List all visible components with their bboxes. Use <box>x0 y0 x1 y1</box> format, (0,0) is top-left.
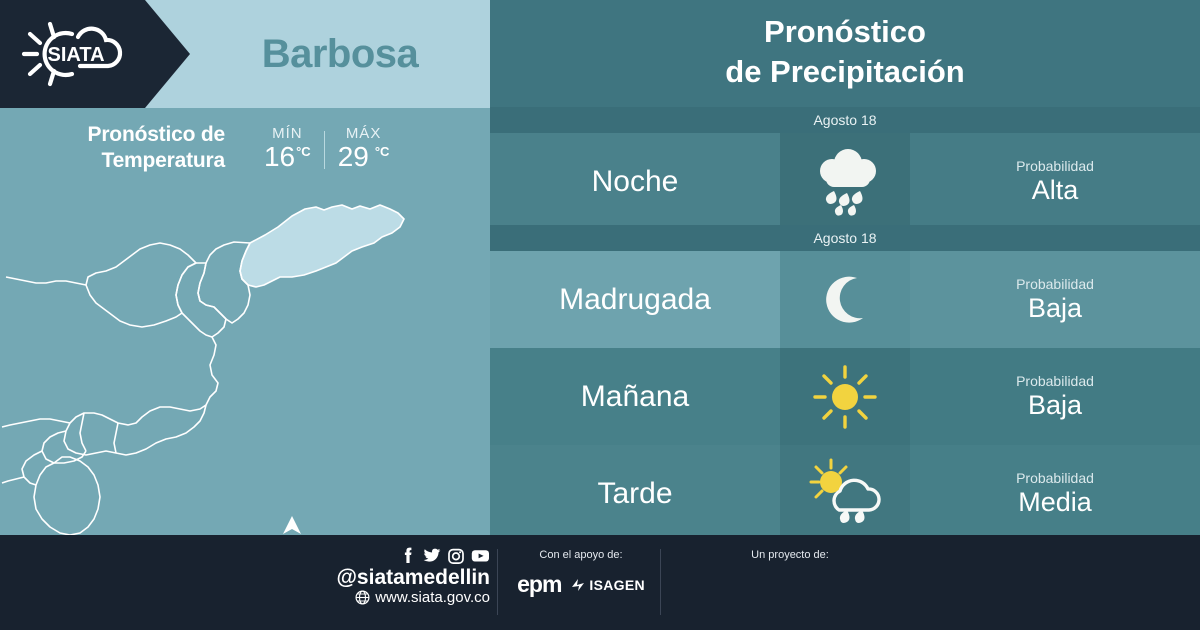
period-label-tarde: Tarde <box>490 445 780 542</box>
forecast-row-manana: Mañana Probabili <box>490 348 1200 445</box>
moon-icon <box>815 270 875 330</box>
min-label: MÍN <box>272 125 303 142</box>
probability-label-tarde: Probabilidad <box>1016 469 1094 488</box>
forecast-row-madrugada: Madrugada Probabilidad Baja <box>490 251 1200 348</box>
map-region-sabaneta <box>42 431 86 463</box>
website-row[interactable]: www.siata.gov.co <box>355 589 490 606</box>
logo-header: SIATA Barbosa <box>0 0 490 108</box>
probability-label-manana: Probabilidad <box>1016 372 1094 391</box>
instagram-icon[interactable] <box>448 548 464 564</box>
right-panel: Pronóstico de Precipitación Agosto 18 No… <box>490 0 1200 535</box>
map-region-caldas <box>34 457 100 535</box>
forecast-row-tarde: Tarde <box>490 445 1200 542</box>
probability-cell-tarde: Probabilidad Media <box>910 445 1200 542</box>
support-logos: epm ISAGEN <box>508 573 654 596</box>
probability-value-noche: Alta <box>1032 175 1079 206</box>
siata-logo-block: SIATA <box>0 0 190 108</box>
precipitation-title-line1: Pronóstico <box>490 12 1200 52</box>
map-region-west-edge-3 <box>2 477 24 483</box>
date-band-2: Agosto 18 <box>490 225 1200 251</box>
probability-cell-noche: Probabilidad Alta <box>910 133 1200 230</box>
north-arrow-icon <box>281 515 303 535</box>
footer: @siatamedellin www.siata.gov.co Con el a… <box>0 535 1200 630</box>
min-unit: °C <box>296 145 311 158</box>
map-region-river-boundary <box>206 337 218 405</box>
sun-rain-cloud-icon <box>805 458 885 530</box>
map-region-itagui <box>80 413 86 451</box>
isagen-text: ISAGEN <box>589 577 644 593</box>
probability-value-madrugada: Baja <box>1028 293 1082 324</box>
map-region-bello <box>86 243 196 327</box>
map-region-la-estrella <box>22 451 42 485</box>
city-name: Barbosa <box>190 0 490 108</box>
temperature-max: MÁX 29 °C <box>325 125 403 171</box>
footer-divider-2 <box>660 549 661 615</box>
probability-value-tarde: Media <box>1018 487 1092 518</box>
max-label: MÁX <box>346 125 382 142</box>
probability-label-noche: Probabilidad <box>1016 157 1094 176</box>
facebook-icon[interactable] <box>401 547 416 564</box>
temperature-title-line1: Pronóstico de <box>88 122 225 148</box>
precipitation-title: Pronóstico de Precipitación <box>490 12 1200 91</box>
rain-cloud-icon <box>806 147 884 217</box>
period-label-manana: Mañana <box>490 348 780 445</box>
website-url[interactable]: www.siata.gov.co <box>375 589 490 606</box>
twitter-icon[interactable] <box>423 547 441 564</box>
map-region-girardota <box>198 242 250 323</box>
temperature-title: Pronóstico de Temperatura <box>88 122 225 173</box>
min-value-group: 16 °C <box>264 143 311 171</box>
social-handle[interactable]: @siatamedellin <box>336 566 490 589</box>
aburra-valley-map: N <box>0 185 490 535</box>
date-band-1: Agosto 18 <box>490 107 1200 133</box>
project-caption: Un proyecto de: <box>665 549 915 561</box>
map-region-west-edge-2 <box>2 419 70 427</box>
min-value: 16 <box>264 143 295 171</box>
social-group: @siatamedellin www.siata.gov.co <box>330 547 490 606</box>
map-region-medellin <box>64 405 206 455</box>
map-region-west-edge-1 <box>6 277 86 285</box>
isagen-logo: ISAGEN <box>571 577 644 593</box>
period-label-noche: Noche <box>490 133 780 230</box>
map-region-barbosa <box>240 205 404 287</box>
probability-value-manana: Baja <box>1028 390 1082 421</box>
max-unit: °C <box>375 145 390 158</box>
left-panel: SIATA Barbosa Pronóstico de Temperatura … <box>0 0 490 535</box>
temperature-header: Pronóstico de Temperatura MÍN 16 °C MÁX … <box>0 108 490 188</box>
globe-icon <box>355 590 370 605</box>
footer-divider-1 <box>497 549 498 615</box>
map-svg <box>0 185 490 535</box>
period-label-madrugada: Madrugada <box>490 251 780 348</box>
probability-cell-madrugada: Probabilidad Baja <box>910 251 1200 348</box>
max-value: 29 <box>338 143 369 171</box>
precipitation-title-line2: de Precipitación <box>490 52 1200 92</box>
map-region-envigado <box>114 423 118 453</box>
probability-label-madrugada: Probabilidad <box>1016 275 1094 294</box>
weather-icon-cell-madrugada <box>780 251 910 348</box>
weather-icon-cell-manana <box>780 348 910 445</box>
support-caption: Con el apoyo de: <box>508 549 654 561</box>
support-group: Con el apoyo de: epm ISAGEN <box>508 549 654 596</box>
social-icons <box>401 547 490 564</box>
infographic-root: SIATA Barbosa Pronóstico de Temperatura … <box>0 0 1200 630</box>
isagen-mark-icon <box>571 578 586 592</box>
temperature-min: MÍN 16 °C <box>251 125 324 171</box>
temperature-title-line2: Temperatura <box>88 148 225 174</box>
weather-icon-cell-tarde <box>780 445 910 542</box>
temperature-values: MÍN 16 °C MÁX 29 °C <box>251 125 403 171</box>
sun-cloud-icon: SIATA <box>14 18 134 90</box>
youtube-icon[interactable] <box>471 548 490 563</box>
epm-logo: epm <box>517 573 561 596</box>
forecast-row-noche: Noche Probabil <box>490 133 1200 230</box>
project-group: Un proyecto de: <box>665 549 915 561</box>
weather-icon-cell-noche <box>780 133 910 230</box>
siata-logo-text: SIATA <box>47 44 104 66</box>
sun-icon <box>811 363 879 431</box>
max-value-group: 29 °C <box>338 143 390 171</box>
probability-cell-manana: Probabilidad Baja <box>910 348 1200 445</box>
